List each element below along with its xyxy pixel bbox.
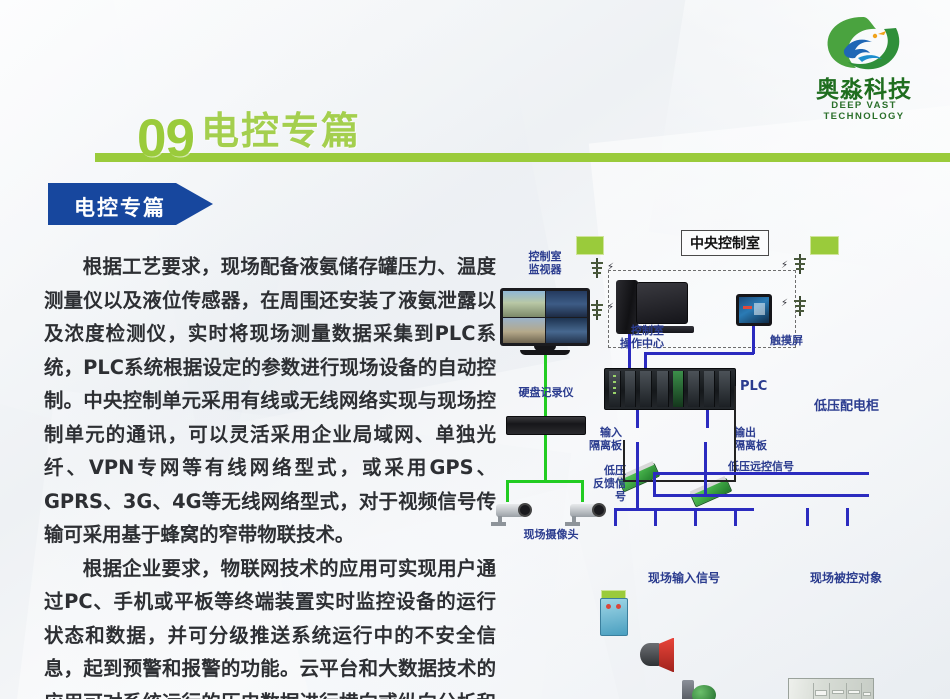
paragraph-1: 根据工艺要求，现场配备液氨储存罐压力、温度测量仪以及液位传感器，在周围还安装了液… bbox=[44, 250, 496, 552]
antenna-icon bbox=[794, 254, 806, 274]
lv-loop-wire bbox=[623, 440, 625, 482]
site-camera bbox=[564, 500, 606, 526]
section-number: 09 bbox=[137, 112, 194, 166]
lv-distribution-cabinet bbox=[788, 678, 874, 699]
signal-bus-wire bbox=[653, 472, 656, 496]
signal-bolt-icon: ⚡ bbox=[607, 302, 616, 313]
paragraph-2: 根据企业要求，物联网技术的应用可实现用户通过PC、手机或平板等终端装置实时监控设… bbox=[44, 552, 496, 699]
label-site-controlled-objects: 现场被控对象 bbox=[786, 572, 906, 585]
label-lv-feedback-signal: 低压 反馈信号 bbox=[586, 464, 626, 503]
plc-io-wire bbox=[636, 410, 639, 428]
field-signal-box bbox=[600, 598, 628, 636]
lv-loop-wire bbox=[623, 480, 736, 482]
field-pump bbox=[682, 680, 716, 699]
field-input-bus bbox=[614, 508, 754, 511]
label-input-isolation-board: 输入 隔离板 bbox=[582, 426, 622, 452]
headline-rule-left bbox=[95, 153, 137, 162]
power-wire bbox=[806, 508, 809, 526]
output-isolation-board bbox=[690, 478, 733, 508]
video-wire bbox=[544, 434, 547, 482]
control-room-monitor bbox=[500, 288, 590, 346]
hmi-touchscreen bbox=[736, 294, 772, 326]
logo-company-en: DEEP VAST TECHNOLOGY bbox=[790, 100, 938, 122]
control-wire bbox=[752, 326, 755, 354]
signal-bus-wire bbox=[704, 442, 707, 496]
video-wire bbox=[506, 480, 584, 483]
headline-rule bbox=[95, 153, 950, 162]
system-architecture-diagram: 中央控制室 ⚡ ⚡ ⚡ ⚡ 控制室 监视器 bbox=[488, 228, 950, 628]
label-lv-distribution-cabinet: 低压配电柜 bbox=[814, 400, 914, 413]
logo-company-cn: 奥淼科技 bbox=[790, 70, 938, 104]
plc-rack bbox=[604, 368, 736, 410]
video-wire bbox=[581, 480, 584, 502]
control-wire bbox=[644, 352, 754, 355]
antenna-icon bbox=[591, 258, 603, 278]
field-input-branch bbox=[694, 508, 697, 526]
label-output-isolation-board: 输出 隔离板 bbox=[734, 426, 780, 452]
company-logo: 奥淼科技 DEEP VAST TECHNOLOGY bbox=[790, 14, 938, 118]
site-camera bbox=[490, 500, 532, 526]
field-input-branch bbox=[614, 508, 617, 526]
signal-bus-wire bbox=[653, 472, 869, 475]
lv-loop-wire bbox=[734, 386, 736, 482]
field-valve bbox=[640, 636, 674, 674]
page-title: 电控专篇 bbox=[201, 110, 361, 152]
monitor-base bbox=[520, 350, 570, 355]
label-touchscreen: 触摸屏 bbox=[770, 334, 840, 347]
operations-pc-monitor bbox=[636, 282, 688, 324]
slide-page: 奥淼科技 DEEP VAST TECHNOLOGY 09 电控专篇 电控专篇 根… bbox=[0, 0, 950, 699]
body-text: 根据工艺要求，现场配备液氨储存罐压力、温度测量仪以及液位传感器，在周围还安装了液… bbox=[44, 250, 496, 699]
label-site-cameras: 现场摄像头 bbox=[496, 528, 606, 541]
antenna-icon bbox=[794, 296, 806, 316]
label-site-input-signals: 现场输入信号 bbox=[624, 572, 744, 585]
signal-bolt-icon: ⚡ bbox=[607, 262, 616, 273]
power-wire bbox=[846, 508, 849, 526]
plc-io-wire bbox=[706, 410, 709, 428]
signal-bus-wire bbox=[636, 442, 639, 508]
logo-swoosh-wave-icon bbox=[820, 14, 906, 74]
section-banner-label: 电控专篇 bbox=[74, 192, 166, 222]
field-input-branch bbox=[654, 508, 657, 526]
green-rect-marker bbox=[810, 236, 839, 255]
label-plc: PLC bbox=[740, 380, 780, 393]
control-wire bbox=[628, 334, 631, 368]
signal-bolt-icon: ⚡ bbox=[781, 298, 790, 309]
signal-bus-wire bbox=[653, 494, 869, 497]
antenna-icon bbox=[591, 300, 603, 320]
label-control-room-monitor: 控制室 监视器 bbox=[500, 250, 590, 276]
section-banner: 电控专篇 bbox=[48, 183, 213, 225]
central-control-room-title: 中央控制室 bbox=[681, 230, 769, 256]
video-wire bbox=[506, 480, 509, 502]
label-dvr: 硬盘记录仪 bbox=[496, 386, 596, 399]
video-wire bbox=[544, 348, 547, 416]
hard-disk-recorder bbox=[506, 416, 586, 435]
field-input-branch bbox=[734, 508, 737, 526]
signal-bolt-icon: ⚡ bbox=[781, 260, 790, 271]
